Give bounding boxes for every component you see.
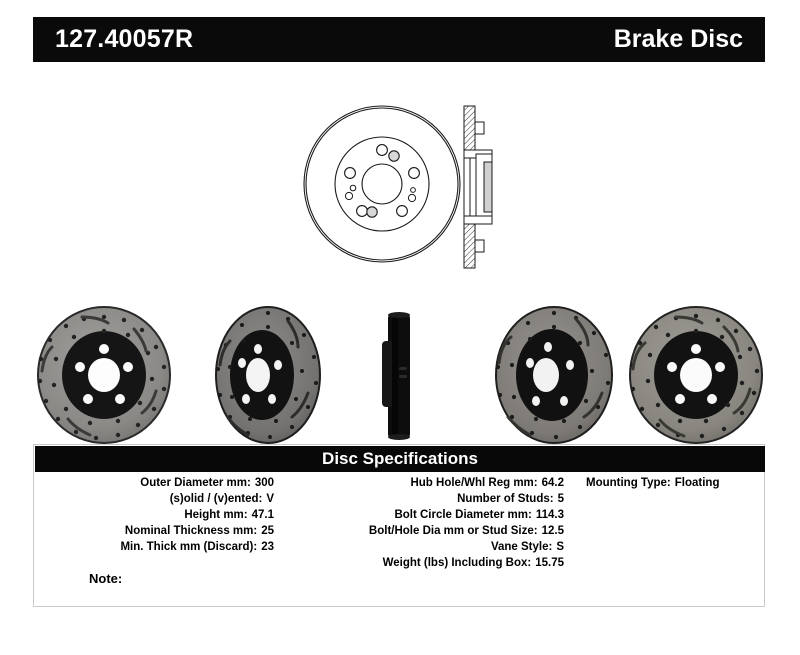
spec-column-middle: Hub Hole/Whl Reg mm: 64.2 Number of Stud…: [274, 476, 564, 571]
spec-value: 5: [554, 492, 564, 507]
spec-value: 25: [257, 524, 274, 539]
spec-value: Floating: [671, 476, 720, 491]
spec-value: S: [552, 540, 564, 555]
spec-label: Number of Studs:: [457, 492, 553, 507]
rotor-photo-edge-profile: [368, 311, 430, 441]
cad-drawing-group: [296, 92, 508, 282]
spec-row: Min. Thick mm (Discard): 23: [34, 540, 274, 555]
spec-label: Bolt/Hole Dia mm or Stud Size:: [369, 524, 538, 539]
spec-value: 12.5: [538, 524, 564, 539]
page-header-bar: 127.40057R Brake Disc: [33, 17, 765, 62]
spec-row: Outer Diameter mm: 300: [34, 476, 274, 491]
rotor-photo-rear-angle: [480, 305, 632, 445]
spec-heading: Disc Specifications: [322, 449, 478, 469]
spec-row: Hub Hole/Whl Reg mm: 64.2: [274, 476, 564, 491]
spec-column-left: Outer Diameter mm: 300 (s)olid / (v)ente…: [34, 476, 274, 571]
spec-label: Mounting Type:: [586, 476, 671, 491]
product-photo-row: [28, 305, 776, 445]
spec-column-right: Mounting Type: Floating: [564, 476, 764, 571]
spec-label: Nominal Thickness mm:: [125, 524, 257, 539]
note-field: Note:: [89, 571, 128, 586]
spec-value: 300: [251, 476, 274, 491]
spec-value: V: [262, 492, 274, 507]
spec-label: Vane Style:: [491, 540, 552, 555]
note-label: Note:: [89, 571, 122, 586]
spec-label: Bolt Circle Diameter mm:: [394, 508, 531, 523]
spec-row: Vane Style: S: [274, 540, 564, 555]
spec-row: Bolt Circle Diameter mm: 114.3: [274, 508, 564, 523]
spec-row: Number of Studs: 5: [274, 492, 564, 507]
rotor-photo-three-quarter: [196, 305, 346, 445]
note-value: [122, 571, 128, 586]
spec-label: Min. Thick mm (Discard):: [120, 540, 257, 555]
page-title: Brake Disc: [614, 25, 743, 54]
spec-label: Outer Diameter mm:: [140, 476, 251, 491]
spec-value: 23: [257, 540, 274, 555]
rotor-photo-face-on: [620, 305, 776, 445]
spec-columns: Outer Diameter mm: 300 (s)olid / (v)ente…: [34, 472, 764, 571]
spec-row: Mounting Type: Floating: [564, 476, 764, 491]
rotor-cross-section-cad-drawing: [454, 92, 502, 282]
spec-label: Hub Hole/Whl Reg mm:: [410, 476, 537, 491]
spec-row: Height mm: 47.1: [34, 508, 274, 523]
spec-label: Weight (lbs) Including Box:: [383, 556, 532, 571]
spec-value: 64.2: [538, 476, 564, 491]
spec-row: (s)olid / (v)ented: V: [34, 492, 274, 507]
rotor-photo-front-angle: [28, 305, 188, 445]
spec-row: Nominal Thickness mm: 25: [34, 524, 274, 539]
spec-label: (s)olid / (v)ented:: [170, 492, 263, 507]
spec-header-bar: Disc Specifications: [35, 446, 765, 472]
spec-value: 15.75: [531, 556, 564, 571]
spec-label: Height mm:: [184, 508, 247, 523]
part-number: 127.40057R: [55, 25, 193, 54]
spec-value: 47.1: [248, 508, 274, 523]
spec-value: 114.3: [532, 508, 564, 523]
disc-specifications-box: Disc Specifications Outer Diameter mm: 3…: [33, 444, 765, 607]
spec-row: Weight (lbs) Including Box: 15.75: [274, 556, 564, 571]
spec-row: Bolt/Hole Dia mm or Stud Size: 12.5: [274, 524, 564, 539]
